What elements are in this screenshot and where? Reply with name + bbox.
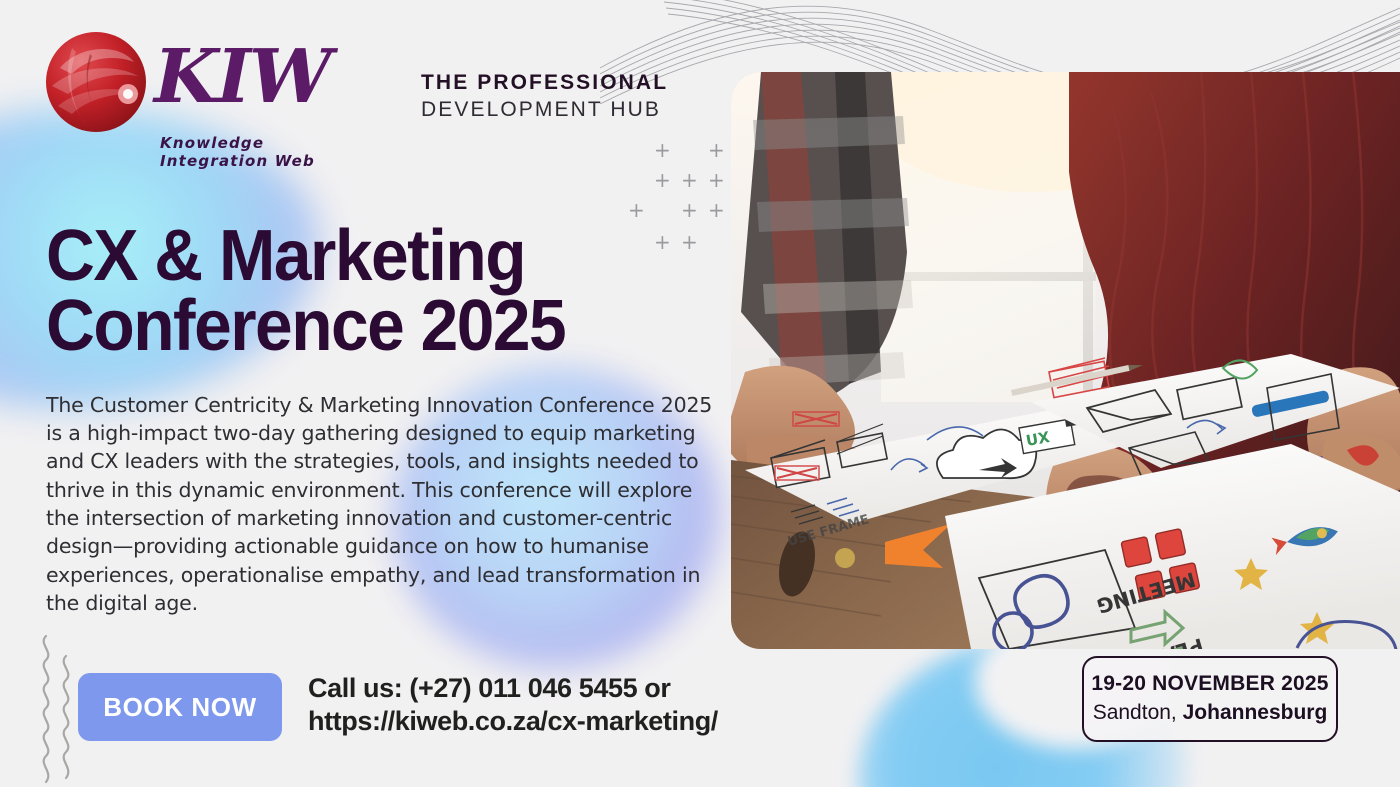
plus-icon: + (654, 140, 671, 160)
contact-phone-line: Call us: (+27) 011 046 5455 or (308, 672, 828, 705)
event-description: The Customer Centricity & Marketing Inno… (46, 391, 714, 618)
contact-url-line[interactable]: https://kiweb.co.za/cx-marketing/ (308, 705, 828, 738)
contact-info[interactable]: Call us: (+27) 011 046 5455 or https://k… (308, 672, 828, 738)
hub-tagline: THE PROFESSIONAL DEVELOPMENT HUB (421, 70, 668, 124)
logo-tagline: Knowledge Integration Web (160, 134, 372, 170)
logo-wordmark: KIW (154, 40, 330, 114)
page-title: CX & Marketing Conference 2025 (46, 222, 704, 362)
event-dates: 19-20 NOVEMBER 2025 (1091, 671, 1328, 697)
hero-photo-illustration: UX USE FRAME (731, 72, 1400, 649)
plus-icon: + (681, 200, 698, 220)
brand-logo[interactable]: KIW Knowledge Integration Web (42, 24, 372, 146)
plus-icon: + (654, 170, 671, 190)
venue-city: Johannesburg (1183, 701, 1328, 724)
conference-banner: + + + + + + + + + + (0, 0, 1400, 787)
headline-line-2: Conference 2025 (46, 292, 704, 362)
hub-line-2: DEVELOPMENT HUB (421, 97, 668, 124)
hero-photo: UX USE FRAME (731, 72, 1400, 649)
hub-line-1: THE PROFESSIONAL (421, 70, 668, 97)
event-date-badge: 19-20 NOVEMBER 2025 Sandton, Johannesbur… (1082, 656, 1338, 742)
plus-icon: + (708, 170, 725, 190)
book-now-button[interactable]: BOOK NOW (78, 673, 282, 741)
plus-icon: + (681, 170, 698, 190)
venue-area: Sandton, (1093, 701, 1177, 724)
plus-icon: + (708, 200, 725, 220)
plus-icon: + (628, 200, 645, 220)
headline-line-1: CX & Marketing (46, 216, 525, 296)
plus-icon: + (708, 140, 725, 160)
kiw-globe-icon (42, 28, 150, 136)
event-venue: Sandton, Johannesburg (1093, 699, 1328, 726)
